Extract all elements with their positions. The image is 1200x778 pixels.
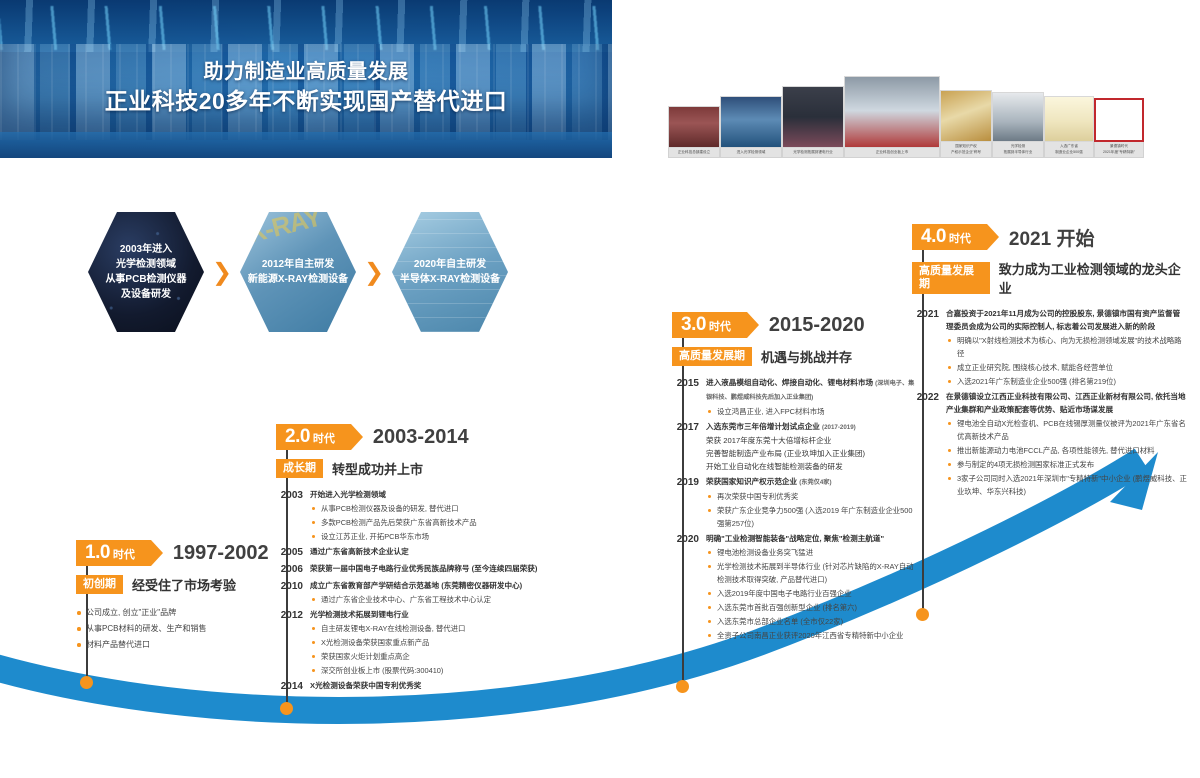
era-number: 1.0 <box>85 540 110 566</box>
era-tag: 1.0时代 <box>76 540 151 566</box>
factory-floor-decor <box>0 132 612 158</box>
workshop-photo-caption: 进入光学检测领域 <box>720 148 782 158</box>
photo-strip: 正业科技总部建设立进入光学检测领域光学检测拓展到锂电行业正业科技创业板上市国家知… <box>668 72 1138 158</box>
era-year-range: 2015-2020 <box>769 314 865 337</box>
xray-inspection-photo-caption: 光学检测拓展到锂电行业 <box>782 148 844 158</box>
era-block-3: 3.0时代2015-2020高质量发展期机遇与挑战并存2015进入液晶模组自动化… <box>672 312 917 644</box>
era-year-content: 进入液晶模组自动化、焊接自动化、锂电材料市场 (深圳电子、集银科技、鹏煜威科技先… <box>706 376 917 418</box>
era-subheader: 初创期经受住了市场考验 <box>76 575 281 594</box>
era-year-subitem: 入选东莞市总部企业名单 (全市仅22家) <box>706 615 917 628</box>
workshop-photo: 进入光学检测领域 <box>720 96 782 158</box>
era-year-subitem: 成立正业研究院, 围绕核心技术, 赋能各经营单位 <box>946 361 1187 374</box>
hex-2003-line: 及设备研发 <box>105 287 186 302</box>
era-year-label: 2010 <box>276 579 310 594</box>
era-block-1: 1.0时代1997-2002初创期经受住了市场考验公司成立, 创立"正业"品牌从… <box>76 540 281 653</box>
era-phase-badge: 成长期 <box>276 459 323 478</box>
era-year-content: 明确"工业检测智能装备"战略定位, 聚焦"检测主航道"锂电池检测设备业务突飞猛进… <box>706 532 917 642</box>
era-year-headline: 明确"工业检测智能装备"战略定位, 聚焦"检测主航道" <box>706 532 917 545</box>
hex-arrow-2-icon: ❯ <box>364 262 382 284</box>
era-year-subitem: 参与制定的4项无损检测国家标准正式发布 <box>946 458 1187 471</box>
era-subheader: 高质量发展期致力成为工业检测领域的龙头企业 <box>912 259 1187 297</box>
era-year-subitem: 深交所创业板上市 (股票代码:300410) <box>310 664 546 677</box>
era-year-row: 2017入选东莞市三年倍增计划试点企业 (2017-2019)荣获 2017年度… <box>672 420 917 473</box>
era-year-content: 开始进入光学检测领域从事PCB检测仪器及设备的研发, 替代进口多款PCB检测产品… <box>310 488 546 543</box>
era-year-subitem: 自主研发锂电X-RAY在线检测设备, 替代进口 <box>310 622 546 635</box>
era-subtitle: 机遇与挑战并存 <box>761 347 852 366</box>
era-year-row: 2021合嘉投资于2021年11月成为公司的控股股东, 景德镇市国有资产监督管理… <box>912 307 1187 388</box>
timeline-dot-era2 <box>280 702 293 715</box>
era-subtitle: 转型成功并上市 <box>332 459 423 478</box>
era-year-label: 2022 <box>912 390 946 405</box>
timeline-dot-era4 <box>916 608 929 621</box>
hexagon-2003: 2003年进入光学检测领域从事PCB检测仪器及设备研发 <box>88 212 204 332</box>
era-header: 4.0时代2021 开始 <box>912 224 1187 250</box>
exhibition-photo-thumb <box>844 76 940 148</box>
era-year-subitem: 设立鸿昌正业, 进入FPC材料市场 <box>706 405 917 418</box>
equipment-photo-caption: 光学检测 拓展到半导体行业 <box>992 142 1044 158</box>
era-bullet-list: 公司成立, 创立"正业"品牌从事PCB材料的研发、生产和销售材料产品替代进口 <box>76 605 281 653</box>
era-year-extra: 荣获 2017年度东莞十大倍增标杆企业 <box>706 434 917 447</box>
hex-2012-line: 新能源X-RAY检测设备 <box>248 272 348 287</box>
era-year-subitem: 入选2019年度中国电子电路行业百强企业 <box>706 587 917 600</box>
era-bullet-item: 从事PCB材料的研发、生产和销售 <box>76 621 281 637</box>
era-year-rows: 2021合嘉投资于2021年11月成为公司的控股股东, 景德镇市国有资产监督管理… <box>912 307 1187 498</box>
era-year-headline: 进入液晶模组自动化、焊接自动化、锂电材料市场 (深圳电子、集银科技、鹏煜威科技先… <box>706 376 917 404</box>
era-year-content: X光检测设备荣获中国专利优秀奖 <box>310 679 546 692</box>
hex-2003-line: 2003年进入 <box>105 242 186 257</box>
era-year-label: 2014 <box>276 679 310 694</box>
era-year-range: 1997-2002 <box>173 542 269 565</box>
era-subtitle: 经受住了市场考验 <box>132 575 236 594</box>
era-year-label: 2012 <box>276 608 310 623</box>
era-year-headline: 合嘉投资于2021年11月成为公司的控股股东, 景德镇市国有资产监督管理委员会成… <box>946 307 1187 333</box>
era-block-4: 4.0时代2021 开始高质量发展期致力成为工业检测领域的龙头企业2021合嘉投… <box>912 224 1187 500</box>
era-header: 3.0时代2015-2020 <box>672 312 917 338</box>
era-year-content: 成立广东省教育部产学研结合示范基地 (东莞精密仪器研发中心)通过广东省企业技术中… <box>310 579 546 606</box>
era-number: 2.0 <box>285 424 310 450</box>
era-year-headline: X光检测设备荣获中国专利优秀奖 <box>310 679 546 692</box>
red-certificate-photo-caption: 景德镇时代 2021年度"专精特新" <box>1094 142 1144 158</box>
red-certificate-photo-thumb <box>1094 98 1144 142</box>
hex-2003-line: 从事PCB检测仪器 <box>105 272 186 287</box>
hexagon-2020: 2020年自主研发半导体X-RAY检测设备 <box>392 212 508 332</box>
era-year-subitem: 荣获国家火炬计划重点高企 <box>310 650 546 663</box>
era-year-label: 2015 <box>672 376 706 391</box>
era-year-subitem: X光检测设备荣获国家重点新产品 <box>310 636 546 649</box>
hero-title-line1: 助力制造业高质量发展 <box>0 58 612 86</box>
hexagon-2012: 2012年自主研发新能源X-RAY检测设备 <box>240 212 356 332</box>
equipment-photo: 光学检测 拓展到半导体行业 <box>992 92 1044 158</box>
era-year-rows: 2015进入液晶模组自动化、焊接自动化、锂电材料市场 (深圳电子、集银科技、鹏煜… <box>672 376 917 642</box>
hero-banner: 助力制造业高质量发展 正业科技20多年不断实现国产替代进口 <box>0 0 612 158</box>
era-year-headline: 开始进入光学检测领域 <box>310 488 546 501</box>
era-year-subitem: 锂电池全自动X光检查机、PCB在线锡厚测量仪被评为2021年广东省名优高新技术产… <box>946 417 1187 443</box>
era-year-subitem: 推出新能源动力电池FCCL产品, 各项性能领先, 替代进口材料 <box>946 444 1187 457</box>
workshop-photo-thumb <box>720 96 782 148</box>
era-year-headline: 成立广东省教育部产学研结合示范基地 (东莞精密仪器研发中心) <box>310 579 546 592</box>
red-certificate-photo: 景德镇时代 2021年度"专精特新" <box>1094 98 1144 158</box>
ip-award-photo-caption: 国家知识产权 产权示范企业"称号 <box>940 142 992 158</box>
ip-award-photo-thumb <box>940 90 992 142</box>
era-year-range: 2021 开始 <box>1009 224 1095 251</box>
era-tag: 3.0时代 <box>672 312 747 338</box>
xray-inspection-photo-thumb <box>782 86 844 148</box>
hex-2020-line: 半导体X-RAY检测设备 <box>400 272 500 287</box>
era-subtitle: 致力成为工业检测领域的龙头企业 <box>999 259 1187 297</box>
era-year-rows: 2003开始进入光学检测领域从事PCB检测仪器及设备的研发, 替代进口多款PCB… <box>276 488 546 694</box>
era-header: 1.0时代1997-2002 <box>76 540 281 566</box>
era-year-subitem: 通过广东省企业技术中心、广东省工程技术中心认定 <box>310 593 546 606</box>
company-gate-photo-caption: 正业科技总部建设立 <box>668 148 720 158</box>
era-number: 3.0 <box>681 312 706 338</box>
era-year-content: 在景德镇设立江西正业科技有限公司、江西正业新材有限公司, 依托当地产业集群和产业… <box>946 390 1187 498</box>
timeline-dot-era1 <box>80 676 93 689</box>
era-phase-badge: 高质量发展期 <box>912 262 990 294</box>
era-year-row: 2010成立广东省教育部产学研结合示范基地 (东莞精密仪器研发中心)通过广东省企… <box>276 579 546 606</box>
era-year-subitem: 入选2021年广东制造业企业500强 (排名第219位) <box>946 375 1187 388</box>
era-year-row: 2006荣获第一届中国电子电路行业优秀民族品牌称号 (至今连续四届荣获) <box>276 562 546 577</box>
era-year-note: (2017-2019) <box>822 424 856 431</box>
era-year-row: 2005通过广东省高新技术企业认定 <box>276 545 546 560</box>
era-year-range: 2003-2014 <box>373 426 469 449</box>
era-header: 2.0时代2003-2014 <box>276 424 546 450</box>
era-year-subitem: 荣获广东企业竞争力500强 (入选2019 年广东制造业企业500 强第257位… <box>706 504 917 530</box>
ip-award-photo: 国家知识产权 产权示范企业"称号 <box>940 90 992 158</box>
hex-2003-line: 光学检测领域 <box>105 257 186 272</box>
era-year-row: 2014X光检测设备荣获中国专利优秀奖 <box>276 679 546 694</box>
era-year-headline: 在景德镇设立江西正业科技有限公司、江西正业新材有限公司, 依托当地产业集群和产业… <box>946 390 1187 416</box>
era-year-content: 通过广东省高新技术企业认定 <box>310 545 546 558</box>
era-year-label: 2017 <box>672 420 706 435</box>
era-year-subitem: 光学检测技术拓展到半导体行业 (针对芯片缺陷的X-RAY自动检测技术取得突破, … <box>706 560 917 586</box>
certificate-photo-thumb <box>1044 96 1094 142</box>
era-year-subitem: 再次荣获中国专利优秀奖 <box>706 490 917 503</box>
era-year-subitem: 3家子公司同时入选2021年深圳市"专精特新"中小企业 (鹏煜威科技、正业玖坤、… <box>946 472 1187 498</box>
era-era-label: 时代 <box>949 226 971 252</box>
era-phase-badge: 高质量发展期 <box>672 347 752 366</box>
era-year-row: 2020明确"工业检测智能装备"战略定位, 聚焦"检测主航道"锂电池检测设备业务… <box>672 532 917 642</box>
era-year-headline: 荣获国家知识产权示范企业 (东莞仅4家) <box>706 475 917 489</box>
era-year-subitem: 全资子公司南昌正业获评2020年江西省专精特新中小企业 <box>706 629 917 642</box>
era-year-row: 2019荣获国家知识产权示范企业 (东莞仅4家)再次荣获中国专利优秀奖荣获广东企… <box>672 475 917 530</box>
era-tag: 2.0时代 <box>276 424 351 450</box>
era-year-note: (东莞仅4家) <box>799 479 831 486</box>
era-subheader: 成长期转型成功并上市 <box>276 459 546 478</box>
equipment-photo-thumb <box>992 92 1044 142</box>
era-year-label: 2006 <box>276 562 310 577</box>
hex-2020-line: 2020年自主研发 <box>400 257 500 272</box>
company-gate-photo-thumb <box>668 106 720 148</box>
hex-2012-line: 2012年自主研发 <box>248 257 348 272</box>
xray-inspection-photo: 光学检测拓展到锂电行业 <box>782 86 844 158</box>
era-phase-badge: 初创期 <box>76 575 123 594</box>
era-block-2: 2.0时代2003-2014成长期转型成功并上市2003开始进入光学检测领域从事… <box>276 424 546 696</box>
era-tag: 4.0时代 <box>912 224 987 250</box>
exhibition-photo: 正业科技创业板上市 <box>844 76 940 158</box>
era-year-label: 2020 <box>672 532 706 547</box>
era-year-subitem: 多款PCB检测产品先后荣获广东省高新技术产品 <box>310 516 546 529</box>
hero-title-line2: 正业科技20多年不断实现国产替代进口 <box>0 86 612 117</box>
hero-title: 助力制造业高质量发展 正业科技20多年不断实现国产替代进口 <box>0 58 612 117</box>
era-year-subitem: 入选东莞市首批百强创新型企业 (排名第六) <box>706 601 917 614</box>
era-year-row: 2022在景德镇设立江西正业科技有限公司、江西正业新材有限公司, 依托当地产业集… <box>912 390 1187 498</box>
era-subheader: 高质量发展期机遇与挑战并存 <box>672 347 917 366</box>
era-bullet-item: 材料产品替代进口 <box>76 637 281 653</box>
era-number: 4.0 <box>921 224 946 250</box>
era-year-subitem: 从事PCB检测仪器及设备的研发, 替代进口 <box>310 502 546 515</box>
era-year-headline: 荣获第一届中国电子电路行业优秀民族品牌称号 (至今连续四届荣获) <box>310 562 546 575</box>
era-year-headline: 光学检测技术拓展到锂电行业 <box>310 608 546 621</box>
era-era-label: 时代 <box>709 314 731 340</box>
era-bullet-item: 公司成立, 创立"正业"品牌 <box>76 605 281 621</box>
era-year-extra: 开始工业自动化在线智能检测装备的研发 <box>706 460 917 473</box>
era-era-label: 时代 <box>113 542 135 568</box>
era-year-headline: 入选东莞市三年倍增计划试点企业 (2017-2019) <box>706 420 917 434</box>
era-year-content: 光学检测技术拓展到锂电行业自主研发锂电X-RAY在线检测设备, 替代进口X光检测… <box>310 608 546 677</box>
era-year-row: 2012光学检测技术拓展到锂电行业自主研发锂电X-RAY在线检测设备, 替代进口… <box>276 608 546 677</box>
hex-arrow-1-icon: ❯ <box>212 262 230 284</box>
timeline-dot-era3 <box>676 680 689 693</box>
era-year-row: 2015进入液晶模组自动化、焊接自动化、锂电材料市场 (深圳电子、集银科技、鹏煜… <box>672 376 917 418</box>
company-gate-photo: 正业科技总部建设立 <box>668 106 720 158</box>
era-year-subitem: 明确以"X射线检测技术为核心、向为无损检测领域发展"的技术战略路径 <box>946 334 1187 360</box>
era-year-content: 荣获第一届中国电子电路行业优秀民族品牌称号 (至今连续四届荣获) <box>310 562 546 575</box>
era-year-content: 入选东莞市三年倍增计划试点企业 (2017-2019)荣获 2017年度东莞十大… <box>706 420 917 473</box>
era-year-headline: 通过广东省高新技术企业认定 <box>310 545 546 558</box>
exhibition-photo-caption: 正业科技创业板上市 <box>844 148 940 158</box>
era-year-label: 2021 <box>912 307 946 322</box>
era-year-content: 荣获国家知识产权示范企业 (东莞仅4家)再次荣获中国专利优秀奖荣获广东企业竞争力… <box>706 475 917 530</box>
era-year-label: 2003 <box>276 488 310 503</box>
era-year-row: 2003开始进入光学检测领域从事PCB检测仪器及设备的研发, 替代进口多款PCB… <box>276 488 546 543</box>
hexagon-milestones: 2003年进入光学检测领域从事PCB检测仪器及设备研发 ❯ 2012年自主研发新… <box>88 212 508 332</box>
era-year-note: (深圳电子、集银科技、鹏煜威科技先后加入正业集团) <box>706 380 914 401</box>
era-year-label: 2005 <box>276 545 310 560</box>
era-era-label: 时代 <box>313 426 335 452</box>
era-year-content: 合嘉投资于2021年11月成为公司的控股股东, 景德镇市国有资产监督管理委员会成… <box>946 307 1187 388</box>
era-year-subitem: 锂电池检测设备业务突飞猛进 <box>706 546 917 559</box>
certificate-photo-caption: 入选广东省 制造业企业500强 <box>1044 142 1094 158</box>
certificate-photo: 入选广东省 制造业企业500强 <box>1044 96 1094 158</box>
era-year-subitem: 设立江苏正业, 开拓PCB华东市场 <box>310 530 546 543</box>
era-year-extra: 完善智能制造产业布局 (正业玖坤加入正业集团) <box>706 447 917 460</box>
era-year-label: 2019 <box>672 475 706 490</box>
